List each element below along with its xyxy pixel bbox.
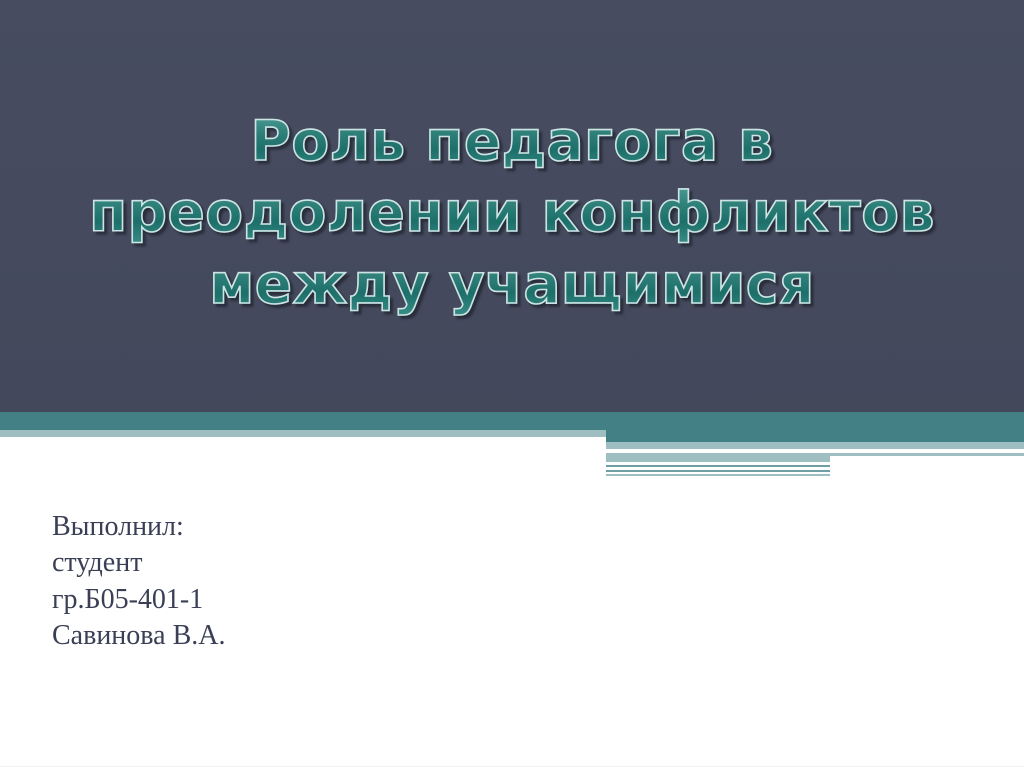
author-block: Выполнил: студент гр.Б05-401-1 Савинова … xyxy=(52,509,572,655)
band-teal-left xyxy=(0,412,606,430)
band-light-teal-left xyxy=(0,430,606,437)
band-teal-right xyxy=(606,412,1024,442)
author-label: Выполнил: xyxy=(52,509,572,545)
title-line-3: между учащимися xyxy=(209,249,814,321)
slide-title: Роль педагога в преодолении конфликтов м… xyxy=(0,0,1024,412)
band-stripe-7 xyxy=(606,474,830,476)
band-stripe-6 xyxy=(606,470,830,472)
decorative-band xyxy=(0,412,1024,482)
title-line-2: преодолении конфликтов xyxy=(89,177,935,249)
band-stripe-5 xyxy=(606,465,830,467)
hero-panel: Роль педагога в преодолении конфликтов м… xyxy=(0,0,1024,412)
author-name: Савинова В.А. xyxy=(52,618,572,654)
author-role: студент xyxy=(52,545,572,581)
band-stripe-4 xyxy=(830,456,1024,462)
title-line-1: Роль педагога в xyxy=(251,106,774,178)
title-slide: Роль педагога в преодолении конфликтов м… xyxy=(0,0,1024,767)
footer-panel: Выполнил: студент гр.Б05-401-1 Савинова … xyxy=(0,482,1024,767)
author-group: гр.Б05-401-1 xyxy=(52,582,572,618)
band-stripe-1 xyxy=(606,442,1024,449)
